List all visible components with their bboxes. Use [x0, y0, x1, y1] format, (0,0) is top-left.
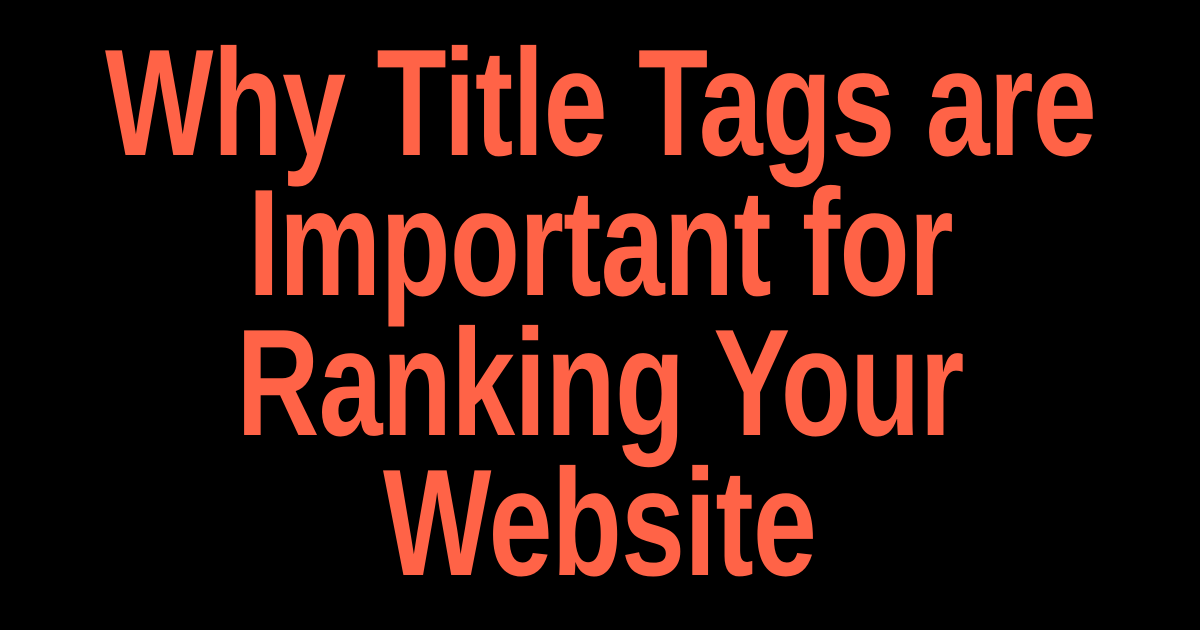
headline-line-4: Website [383, 453, 816, 593]
headline-line-1: Why Title Tags are [105, 33, 1096, 173]
headline-block: Why Title Tags are Important for Ranking… [0, 33, 1200, 593]
social-share-card: Why Title Tags are Important for Ranking… [0, 0, 1200, 630]
headline-line-2: Important for [247, 173, 952, 313]
headline-line-3: Ranking Your [236, 313, 963, 453]
